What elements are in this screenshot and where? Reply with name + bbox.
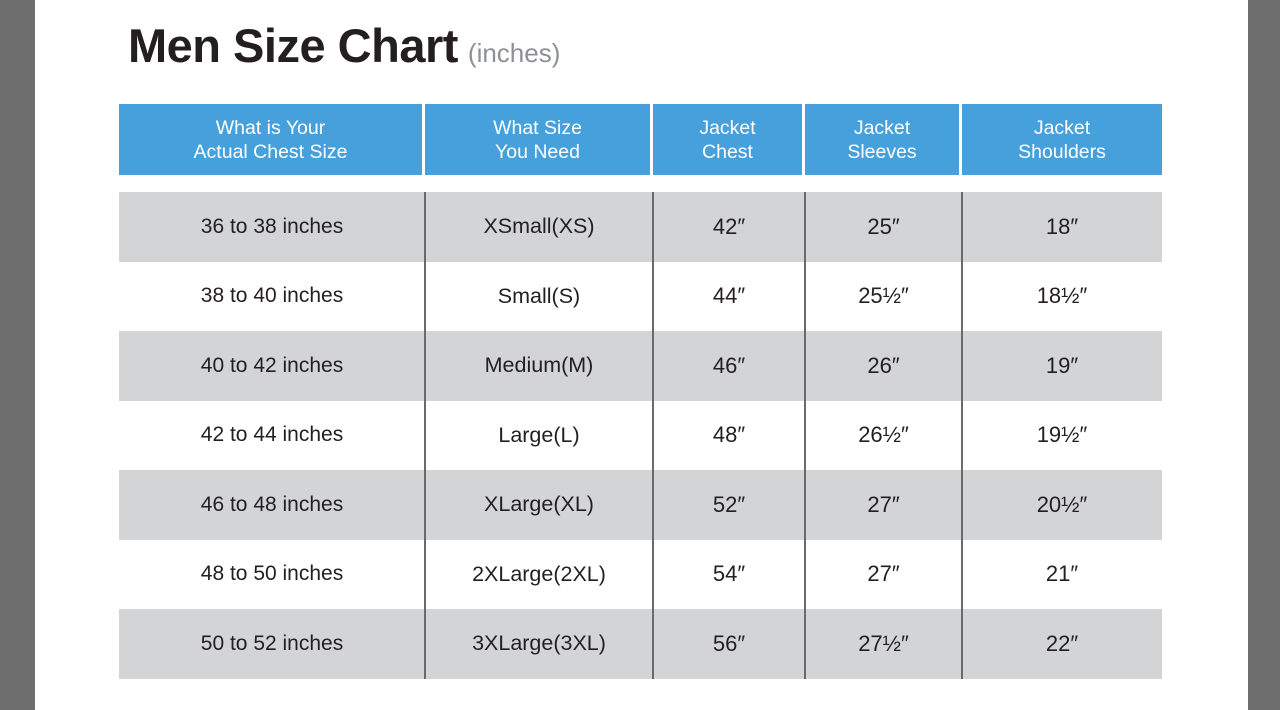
table-header-row: What is Your Actual Chest Size What Size…	[119, 104, 1162, 175]
column-header-line1: Jacket	[699, 116, 755, 140]
cell-jacket-sleeves: 26″	[805, 331, 962, 401]
cell-jacket-shoulders: 19″	[962, 331, 1162, 401]
column-header-line2: Sleeves	[847, 140, 916, 164]
table-body: 36 to 38 inches XSmall(XS) 42″ 25″ 18″ 3…	[119, 192, 1162, 679]
column-header-line1: What Size	[493, 116, 582, 140]
cell-jacket-shoulders: 20½″	[962, 470, 1162, 540]
cell-chest-range: 40 to 42 inches	[119, 331, 425, 401]
cell-jacket-chest: 46″	[653, 331, 805, 401]
column-header-line2: Chest	[702, 140, 753, 164]
column-header-jacket-chest: Jacket Chest	[653, 104, 805, 175]
title-unit-text: (inches)	[468, 38, 560, 69]
cell-chest-range: 50 to 52 inches	[119, 609, 425, 679]
cell-chest-range: 46 to 48 inches	[119, 470, 425, 540]
cell-jacket-sleeves: 25″	[805, 192, 962, 262]
letterbox-bar-right	[1248, 0, 1280, 710]
column-header-line2: Shoulders	[1018, 140, 1106, 164]
title-main-text: Men Size Chart	[128, 18, 458, 73]
page-title: Men Size Chart (inches)	[128, 18, 560, 73]
column-header-size-you-need: What Size You Need	[425, 104, 653, 175]
cell-size-label: XLarge(XL)	[425, 470, 653, 540]
table-row: 42 to 44 inches Large(L) 48″ 26½″ 19½″	[119, 401, 1162, 471]
cell-jacket-sleeves: 26½″	[805, 401, 962, 471]
table-row: 46 to 48 inches XLarge(XL) 52″ 27″ 20½″	[119, 470, 1162, 540]
cell-size-label: XSmall(XS)	[425, 192, 653, 262]
cell-jacket-shoulders: 21″	[962, 540, 1162, 610]
cell-jacket-sleeves: 25½″	[805, 262, 962, 332]
table-row: 38 to 40 inches Small(S) 44″ 25½″ 18½″	[119, 262, 1162, 332]
cell-size-label: Medium(M)	[425, 331, 653, 401]
cell-jacket-shoulders: 18″	[962, 192, 1162, 262]
column-header-jacket-sleeves: Jacket Sleeves	[805, 104, 962, 175]
cell-size-label: Large(L)	[425, 401, 653, 471]
size-chart-page: Men Size Chart (inches) What is Your Act…	[0, 0, 1280, 710]
cell-jacket-sleeves: 27″	[805, 540, 962, 610]
cell-size-label: 2XLarge(2XL)	[425, 540, 653, 610]
column-header-line2: Actual Chest Size	[194, 140, 348, 164]
cell-chest-range: 36 to 38 inches	[119, 192, 425, 262]
letterbox-bar-left	[0, 0, 35, 710]
table-row: 50 to 52 inches 3XLarge(3XL) 56″ 27½″ 22…	[119, 609, 1162, 679]
cell-size-label: 3XLarge(3XL)	[425, 609, 653, 679]
column-header-jacket-shoulders: Jacket Shoulders	[962, 104, 1162, 175]
cell-jacket-chest: 52″	[653, 470, 805, 540]
column-header-line2: You Need	[495, 140, 580, 164]
column-header-actual-chest-size: What is Your Actual Chest Size	[119, 104, 425, 175]
table-row: 40 to 42 inches Medium(M) 46″ 26″ 19″	[119, 331, 1162, 401]
cell-jacket-shoulders: 18½″	[962, 262, 1162, 332]
cell-chest-range: 42 to 44 inches	[119, 401, 425, 471]
column-header-line1: Jacket	[1034, 116, 1090, 140]
column-header-line1: Jacket	[854, 116, 910, 140]
cell-jacket-shoulders: 22″	[962, 609, 1162, 679]
cell-jacket-chest: 48″	[653, 401, 805, 471]
cell-jacket-sleeves: 27″	[805, 470, 962, 540]
cell-jacket-chest: 42″	[653, 192, 805, 262]
men-size-chart-table: What is Your Actual Chest Size What Size…	[119, 104, 1162, 679]
cell-size-label: Small(S)	[425, 262, 653, 332]
cell-jacket-chest: 54″	[653, 540, 805, 610]
cell-jacket-sleeves: 27½″	[805, 609, 962, 679]
table-row: 48 to 50 inches 2XLarge(2XL) 54″ 27″ 21″	[119, 540, 1162, 610]
column-header-line1: What is Your	[216, 116, 325, 140]
table-row: 36 to 38 inches XSmall(XS) 42″ 25″ 18″	[119, 192, 1162, 262]
cell-jacket-chest: 44″	[653, 262, 805, 332]
cell-jacket-chest: 56″	[653, 609, 805, 679]
cell-chest-range: 38 to 40 inches	[119, 262, 425, 332]
cell-jacket-shoulders: 19½″	[962, 401, 1162, 471]
cell-chest-range: 48 to 50 inches	[119, 540, 425, 610]
